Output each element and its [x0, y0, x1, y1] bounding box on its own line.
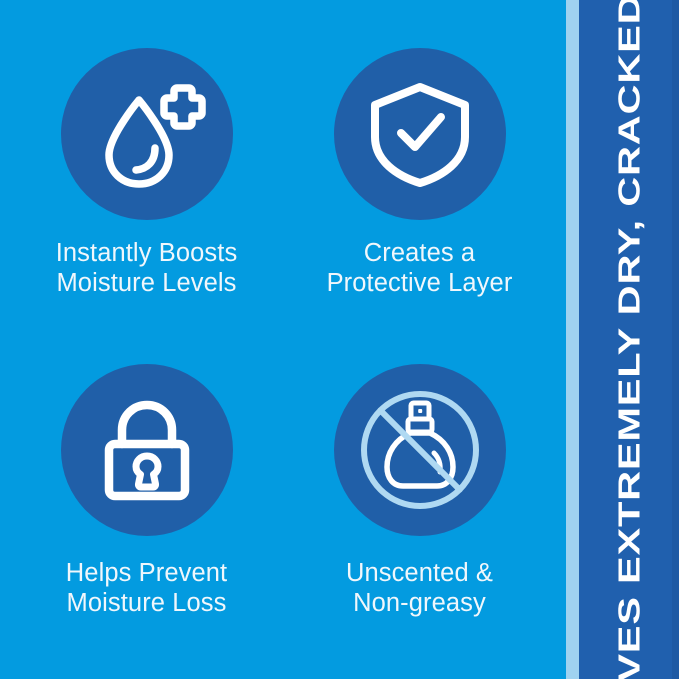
feature-item-creates-a-protective-layer: Creates a Protective Layer — [283, 48, 556, 350]
icon-circle — [334, 48, 506, 220]
banner-text-wrap: RELIEVES EXTREMELY DRY, CRACKED FEET — [579, 0, 679, 679]
feature-item-unscented-and-non-greasy: Unscented & Non-greasy — [283, 350, 556, 652]
features-panel: Instantly Boosts Moisture Levels Creates… — [0, 0, 566, 679]
banner-headline: RELIEVES EXTREMELY DRY, CRACKED FEET — [611, 0, 646, 679]
icon-circle — [61, 48, 233, 220]
banner-edge-shade — [672, 0, 679, 679]
accent-divider-strip — [566, 0, 579, 679]
feature-item-helps-prevent-moisture-loss: Helps Prevent Moisture Loss — [10, 350, 283, 652]
shield-check-icon — [361, 75, 479, 193]
padlock-icon — [91, 394, 203, 506]
feature-label: Creates a Protective Layer — [327, 238, 513, 298]
feature-grid: Instantly Boosts Moisture Levels Creates… — [0, 0, 566, 679]
icon-circle — [61, 364, 233, 536]
feature-label: Helps Prevent Moisture Loss — [66, 558, 227, 618]
feature-label: Instantly Boosts Moisture Levels — [56, 238, 238, 298]
icon-circle — [334, 364, 506, 536]
vertical-banner-panel: RELIEVES EXTREMELY DRY, CRACKED FEET — [579, 0, 679, 679]
water-droplet-plus-icon — [87, 74, 207, 194]
product-benefits-infographic: Instantly Boosts Moisture Levels Creates… — [0, 0, 679, 679]
no-perfume-bottle-icon — [355, 385, 485, 515]
feature-item-instantly-boosts-moisture-levels: Instantly Boosts Moisture Levels — [10, 48, 283, 350]
feature-label: Unscented & Non-greasy — [346, 558, 493, 618]
